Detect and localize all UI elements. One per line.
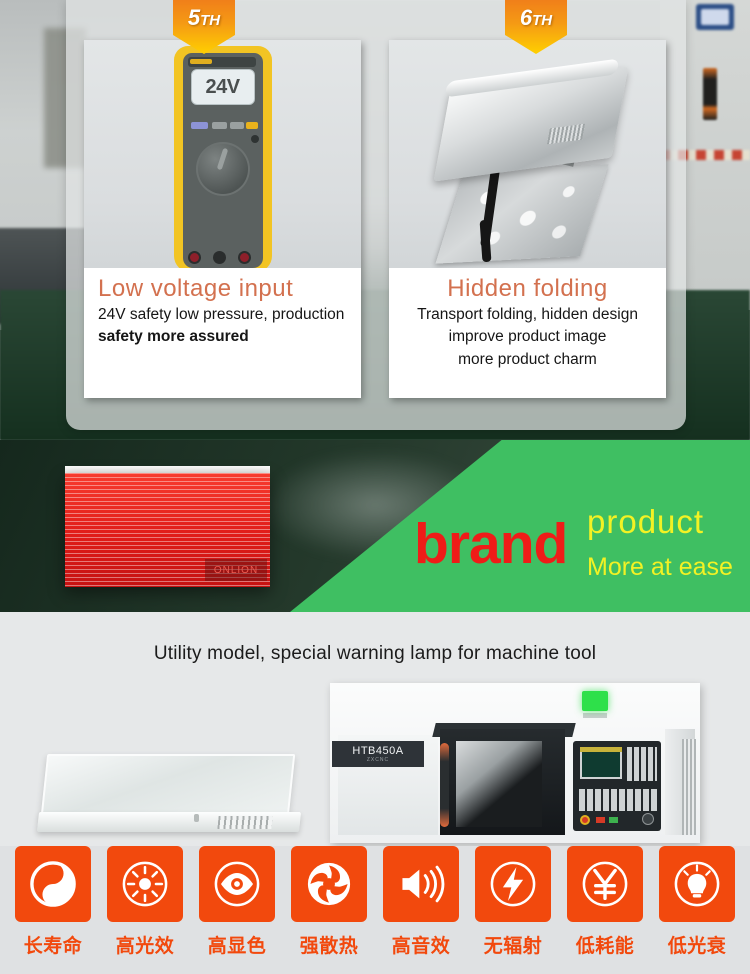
badge-6th-text: 6TH	[520, 5, 552, 31]
machine-cooling-fins	[682, 739, 696, 835]
feature-label: 无辐射	[484, 931, 543, 958]
feature-item-luminous[interactable]: 高光效	[106, 846, 184, 974]
green-warning-lamp	[582, 691, 608, 711]
bulb-icon	[659, 846, 735, 922]
metal-plate	[435, 164, 608, 263]
fire-extinguisher-icon	[703, 68, 717, 120]
brand-word: brand	[414, 516, 567, 573]
fan-icon	[291, 846, 367, 922]
feature-item-no-radiation[interactable]: 无辐射	[474, 846, 552, 974]
lightning-icon	[475, 846, 551, 922]
speaker-icon	[383, 846, 459, 922]
card-line-2: improve product image	[399, 326, 656, 348]
folding-lamp-illustration	[389, 40, 666, 268]
utility-caption: Utility model, special warning lamp for …	[0, 643, 750, 665]
eye-icon	[199, 846, 275, 922]
feature-label: 高光效	[116, 931, 175, 958]
machine-door-handle	[440, 743, 449, 827]
multimeter-display: 24V	[191, 69, 255, 105]
card-title: Hidden folding	[399, 274, 656, 304]
multimeter-indicator	[251, 135, 259, 143]
lamp-screw	[194, 814, 199, 822]
multimeter-port-center	[213, 251, 226, 264]
multimeter-port-left	[188, 251, 201, 264]
warning-lamp-base	[583, 713, 607, 718]
led-watermark-text: ONLION	[214, 565, 258, 576]
card-body: Hidden folding Transport folding, hidden…	[389, 268, 666, 371]
card-line-1: Transport folding, hidden design	[399, 304, 656, 326]
feature-tiles-section: 长寿命 高光效 高显色 强散热 高音效	[0, 846, 750, 974]
machine-button-red	[596, 817, 605, 823]
wall-sign-inner	[701, 9, 729, 25]
feature-label: 强散热	[300, 931, 359, 958]
card-low-voltage[interactable]: 24V Low voltage input 24V safety low pre…	[84, 40, 361, 398]
feature-tiles-row: 长寿命 高光效 高显色 强散热 高音效	[0, 846, 750, 974]
led-watermark: ONLION	[205, 559, 267, 581]
card-line-2: safety more assured	[98, 326, 351, 348]
machine-button-green	[609, 817, 618, 823]
multimeter-illustration: 24V	[174, 46, 272, 268]
more-at-ease-word: More at ease	[587, 555, 733, 580]
voltage-reading: 24V	[205, 76, 239, 99]
feature-item-sound[interactable]: 高音效	[382, 846, 460, 974]
yen-icon	[567, 846, 643, 922]
machine-knob	[642, 813, 654, 825]
card-description: Transport folding, hidden design improve…	[399, 304, 656, 371]
feature-item-low-decay[interactable]: 低光衰	[658, 846, 736, 974]
badge-5th-text: 5TH	[188, 5, 220, 31]
lamp-diffuser	[41, 754, 296, 816]
feature-label: 低光衰	[668, 931, 727, 958]
multimeter-button-4	[246, 122, 258, 129]
machine-submodel-text: ZXCNC	[367, 757, 389, 763]
card-body: Low voltage input 24V safety low pressur…	[84, 268, 361, 349]
feature-item-color-rendering[interactable]: 高显色	[198, 846, 276, 974]
card-hidden-folding[interactable]: Hidden folding Transport folding, hidden…	[389, 40, 666, 398]
led-work-lamp-photo	[22, 748, 312, 844]
multimeter-top-accent	[190, 59, 212, 64]
feature-label: 高显色	[208, 931, 267, 958]
hero-section: 24V Low voltage input 24V safety low pre…	[0, 0, 750, 440]
multimeter-port-right	[238, 251, 251, 264]
multimeter-button-1	[191, 122, 208, 129]
machine-keypad-right	[627, 747, 657, 781]
multimeter-photo: 24V	[84, 40, 361, 268]
feature-item-low-energy[interactable]: 低耗能	[566, 846, 644, 974]
machine-keypad-main	[579, 789, 657, 811]
lamp-vent-slots	[217, 816, 272, 829]
multimeter-button-3	[230, 122, 244, 129]
machine-model-label: HTB450A ZXCNC	[332, 741, 424, 767]
yin-yang-icon	[15, 846, 91, 922]
card-line-3: more product charm	[399, 349, 656, 371]
machine-screen-titlebar	[580, 747, 622, 752]
emergency-stop-button	[580, 815, 590, 825]
feature-item-long-life[interactable]: 长寿命	[14, 846, 92, 974]
feature-label: 长寿命	[24, 931, 83, 958]
card-description: 24V safety low pressure, production safe…	[94, 304, 351, 349]
sun-icon	[107, 846, 183, 922]
feature-label: 高音效	[392, 931, 451, 958]
multimeter-rotary-dial	[196, 142, 250, 196]
card-title: Low voltage input	[94, 274, 351, 304]
feature-item-heat-dissipation[interactable]: 强散热	[290, 846, 368, 974]
machine-model-text: HTB450A	[352, 745, 403, 757]
cnc-machine-photo: HTB450A ZXCNC	[330, 683, 700, 843]
machine-interior	[456, 741, 542, 827]
feature-label: 低耗能	[576, 931, 635, 958]
card-line-1: 24V safety low pressure, production	[98, 304, 351, 326]
folding-lamp-photo	[389, 40, 666, 268]
product-word: product	[587, 505, 704, 538]
multimeter-button-2	[212, 122, 227, 129]
